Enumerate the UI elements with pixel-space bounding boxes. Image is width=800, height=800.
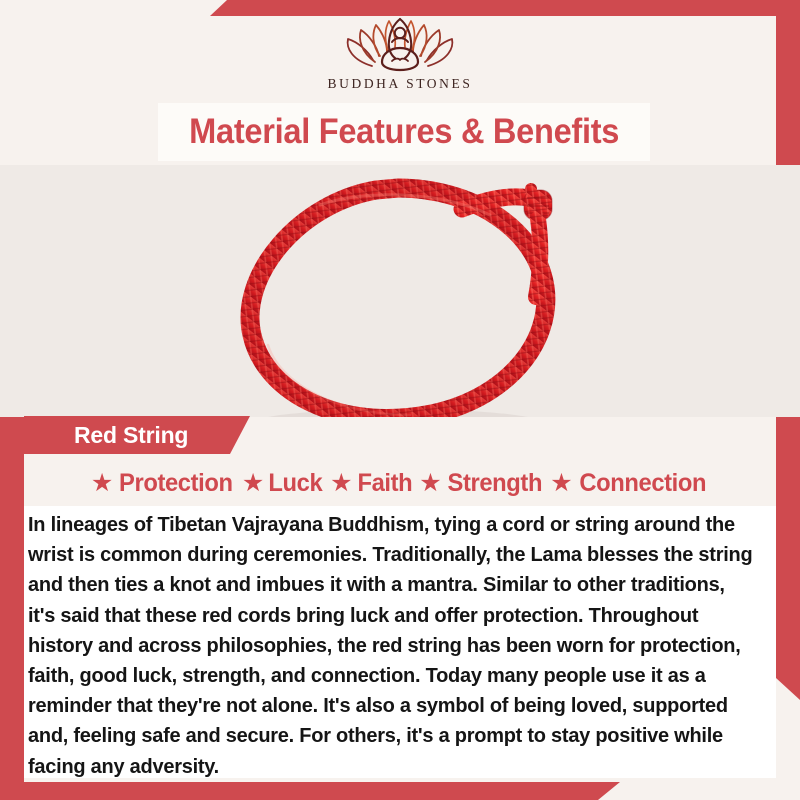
- brand-header: BUDDHA STONES: [0, 0, 800, 103]
- decorative-band-bottom: [0, 782, 620, 800]
- feature-item-strength: ★ Strength: [419, 469, 544, 498]
- feature-label: Faith: [357, 469, 412, 498]
- description-text: In lineages of Tibetan Vajrayana Buddhis…: [28, 510, 753, 782]
- feature-label: Connection: [579, 469, 706, 498]
- feature-item-faith: ★ Faith: [330, 469, 413, 498]
- star-icon: ★: [330, 471, 352, 496]
- lotus-meditation-figure-icon: [342, 12, 458, 74]
- product-photo: [0, 165, 800, 417]
- feature-item-protection: ★ Protection: [91, 469, 236, 498]
- star-icon: ★: [91, 471, 113, 496]
- feature-label: Strength: [447, 469, 542, 498]
- feature-item-connection: ★ Connection: [550, 469, 709, 498]
- star-icon: ★: [242, 471, 264, 496]
- title-banner: Material Features & Benefits: [158, 103, 650, 161]
- product-name-label: Red String: [74, 422, 188, 449]
- infographic-page: BUDDHA STONES Material Features & Benefi…: [0, 0, 800, 800]
- feature-item-luck: ★ Luck: [242, 469, 324, 498]
- brand-name: BUDDHA STONES: [328, 76, 473, 92]
- description-panel: In lineages of Tibetan Vajrayana Buddhis…: [24, 506, 776, 778]
- product-name-ribbon: Red String: [24, 416, 250, 454]
- feature-label: Luck: [269, 469, 323, 498]
- page-title: Material Features & Benefits: [189, 112, 619, 152]
- feature-label: Protection: [119, 469, 233, 498]
- red-braided-bracelet-image: [0, 165, 800, 417]
- star-icon: ★: [419, 471, 441, 496]
- star-icon: ★: [550, 471, 572, 496]
- feature-list: ★ Protection ★ Luck ★ Faith ★ Strength ★…: [24, 462, 776, 504]
